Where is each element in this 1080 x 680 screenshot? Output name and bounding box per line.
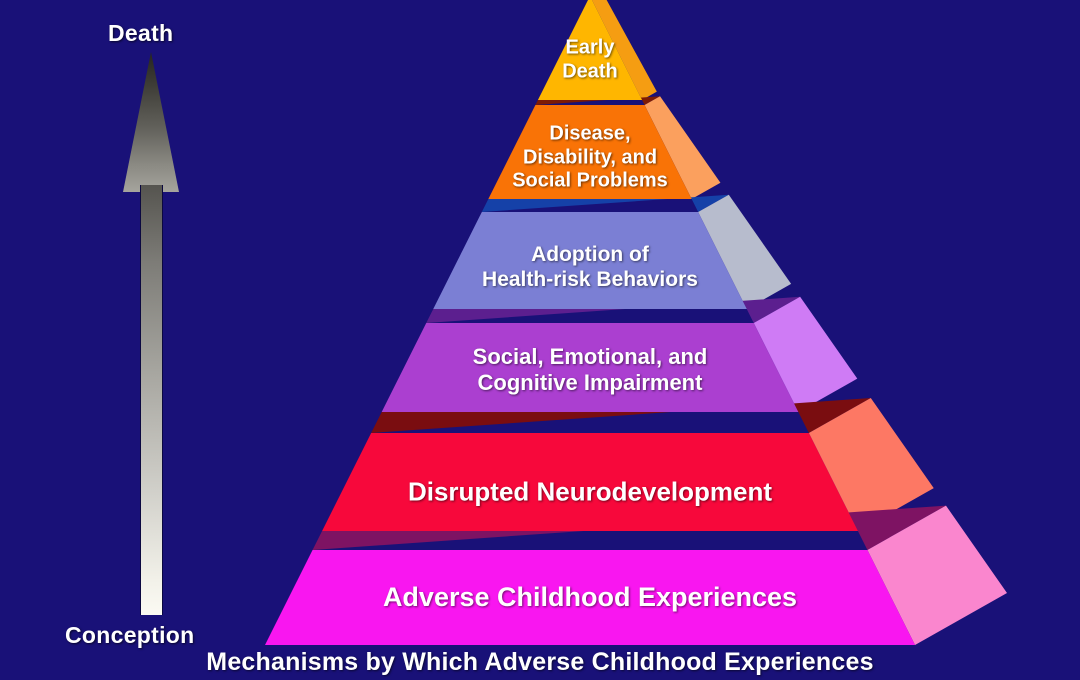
pyramid-diagram: Early DeathDisease, Disability, and Soci… [0,0,1080,675]
pyramid-level-front-4 [433,212,746,309]
figure-caption: Mechanisms by Which Adverse Childhood Ex… [0,648,1080,677]
pyramid-level-front-2 [322,433,858,531]
aces-pyramid-figure: Death Conception Early DeathDisease, Dis… [0,0,1080,675]
pyramid-level-front-3 [382,323,799,412]
pyramid-shapes [0,0,1080,675]
pyramid-level-front-1 [265,550,915,645]
